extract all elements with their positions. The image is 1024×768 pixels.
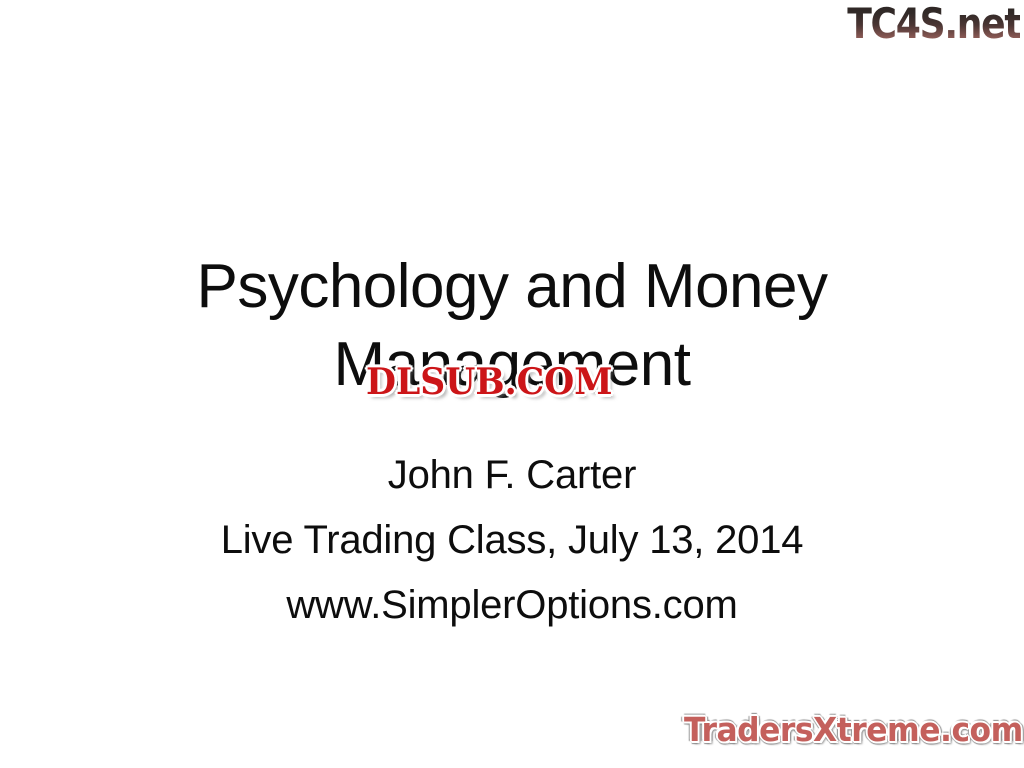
tc4s-watermark: TC4S.net [847, 1, 1020, 47]
event-details: Live Trading Class, July 13, 2014 [112, 508, 912, 573]
tradersxtreme-watermark: TradersXtreme.com [684, 710, 1023, 750]
slide-canvas: TC4S.net Psychology and Money Management… [0, 0, 1024, 768]
subtitle-block: John F. Carter Live Trading Class, July … [112, 443, 912, 638]
dlsub-watermark: DLSUB.COM [366, 360, 612, 404]
presenter-name: John F. Carter [112, 443, 912, 508]
title-line-1: Psychology and Money [112, 248, 912, 326]
website-url: www.SimplerOptions.com [112, 573, 912, 638]
